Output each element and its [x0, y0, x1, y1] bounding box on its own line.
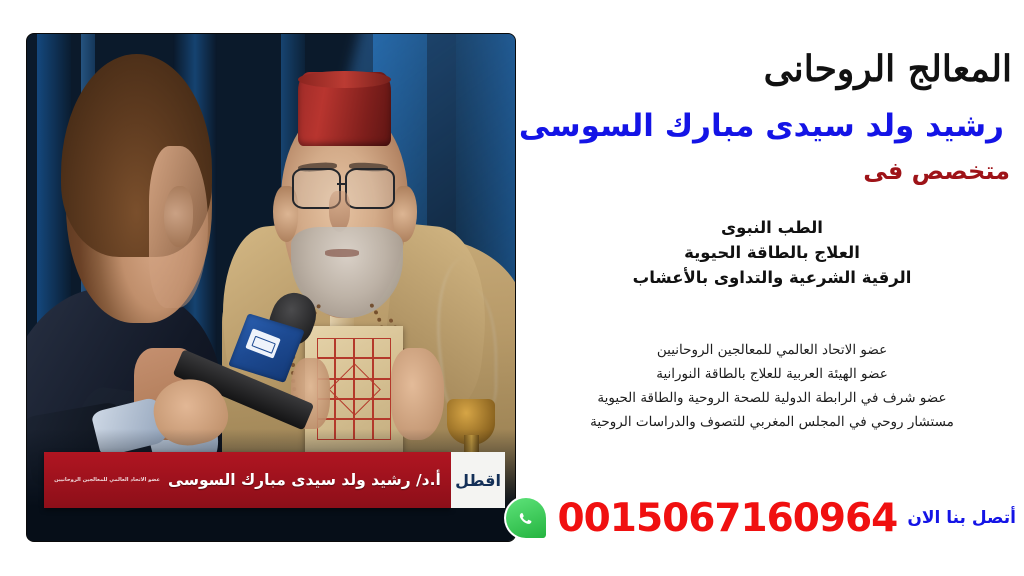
- sheikh-fez-top: [298, 71, 391, 88]
- lower-third-red-band: أ.د/ رشيد ولد سيدى مبارك السوسى عضو الات…: [44, 452, 451, 508]
- contact-row: أتصل بنا الان 0015067160964: [520, 496, 1016, 540]
- services-list: الطب النبوى العلاج بالطاقة الحيوية الرقي…: [520, 215, 1024, 290]
- text-panel: المعالج الروحانى رشيد ولد سيدى مبارك الس…: [520, 0, 1024, 576]
- sheikh-mouth: [325, 249, 359, 256]
- lower-third-banner: أ.د/ رشيد ولد سيدى مبارك السوسى عضو الات…: [44, 452, 505, 508]
- specialty-label: متخصص فى: [540, 157, 1010, 185]
- credential-item: عضو الاتحاد العالمي للمعالجين الروحانيين: [520, 338, 1024, 362]
- lower-third-name: أ.د/ رشيد ولد سيدى مبارك السوسى: [168, 471, 441, 489]
- credential-item: عضو الهيئة العربية للعلاج بالطاقة النورا…: [520, 362, 1024, 386]
- whatsapp-icon-bubble: [506, 498, 546, 538]
- service-item: الرقية الشرعية والتداوى بالأعشاب: [520, 265, 1024, 290]
- service-item: الطب النبوى: [520, 215, 1024, 240]
- sheikh-eyeglass-right: [345, 168, 394, 209]
- practitioner-name: رشيد ولد سيدى مبارك السوسى: [524, 108, 1004, 144]
- photo-inner: أ.د/ رشيد ولد سيدى مبارك السوسى عضو الات…: [27, 34, 515, 541]
- poster-canvas: أ.د/ رشيد ولد سيدى مبارك السوسى عضو الات…: [0, 0, 1024, 576]
- phone-number[interactable]: 0015067160964: [558, 499, 898, 538]
- channel-logo-text: اقطل: [455, 471, 501, 490]
- credential-item: عضو شرف في الرابطة الدولية للصحة الروحية…: [520, 386, 1024, 410]
- whatsapp-icon[interactable]: [504, 496, 548, 540]
- interview-photo: أ.د/ رشيد ولد سيدى مبارك السوسى عضو الات…: [27, 34, 515, 541]
- sheikh-hand-right: [391, 348, 445, 439]
- headline: المعالج الروحانى: [542, 48, 1012, 90]
- call-to-action-text: أتصل بنا الان: [907, 508, 1016, 528]
- interviewer-ear: [164, 186, 193, 247]
- lower-third-subtitle: عضو الاتحاد العالمي للمعالجين الروحانيين: [54, 477, 160, 483]
- sheikh-nose: [329, 191, 350, 232]
- service-item: العلاج بالطاقة الحيوية: [520, 240, 1024, 265]
- channel-logo: اقطل: [451, 452, 505, 508]
- credentials-list: عضو الاتحاد العالمي للمعالجين الروحانيين…: [520, 338, 1024, 434]
- credential-item: مستشار روحي في المجلس المغربي للتصوف وال…: [520, 410, 1024, 434]
